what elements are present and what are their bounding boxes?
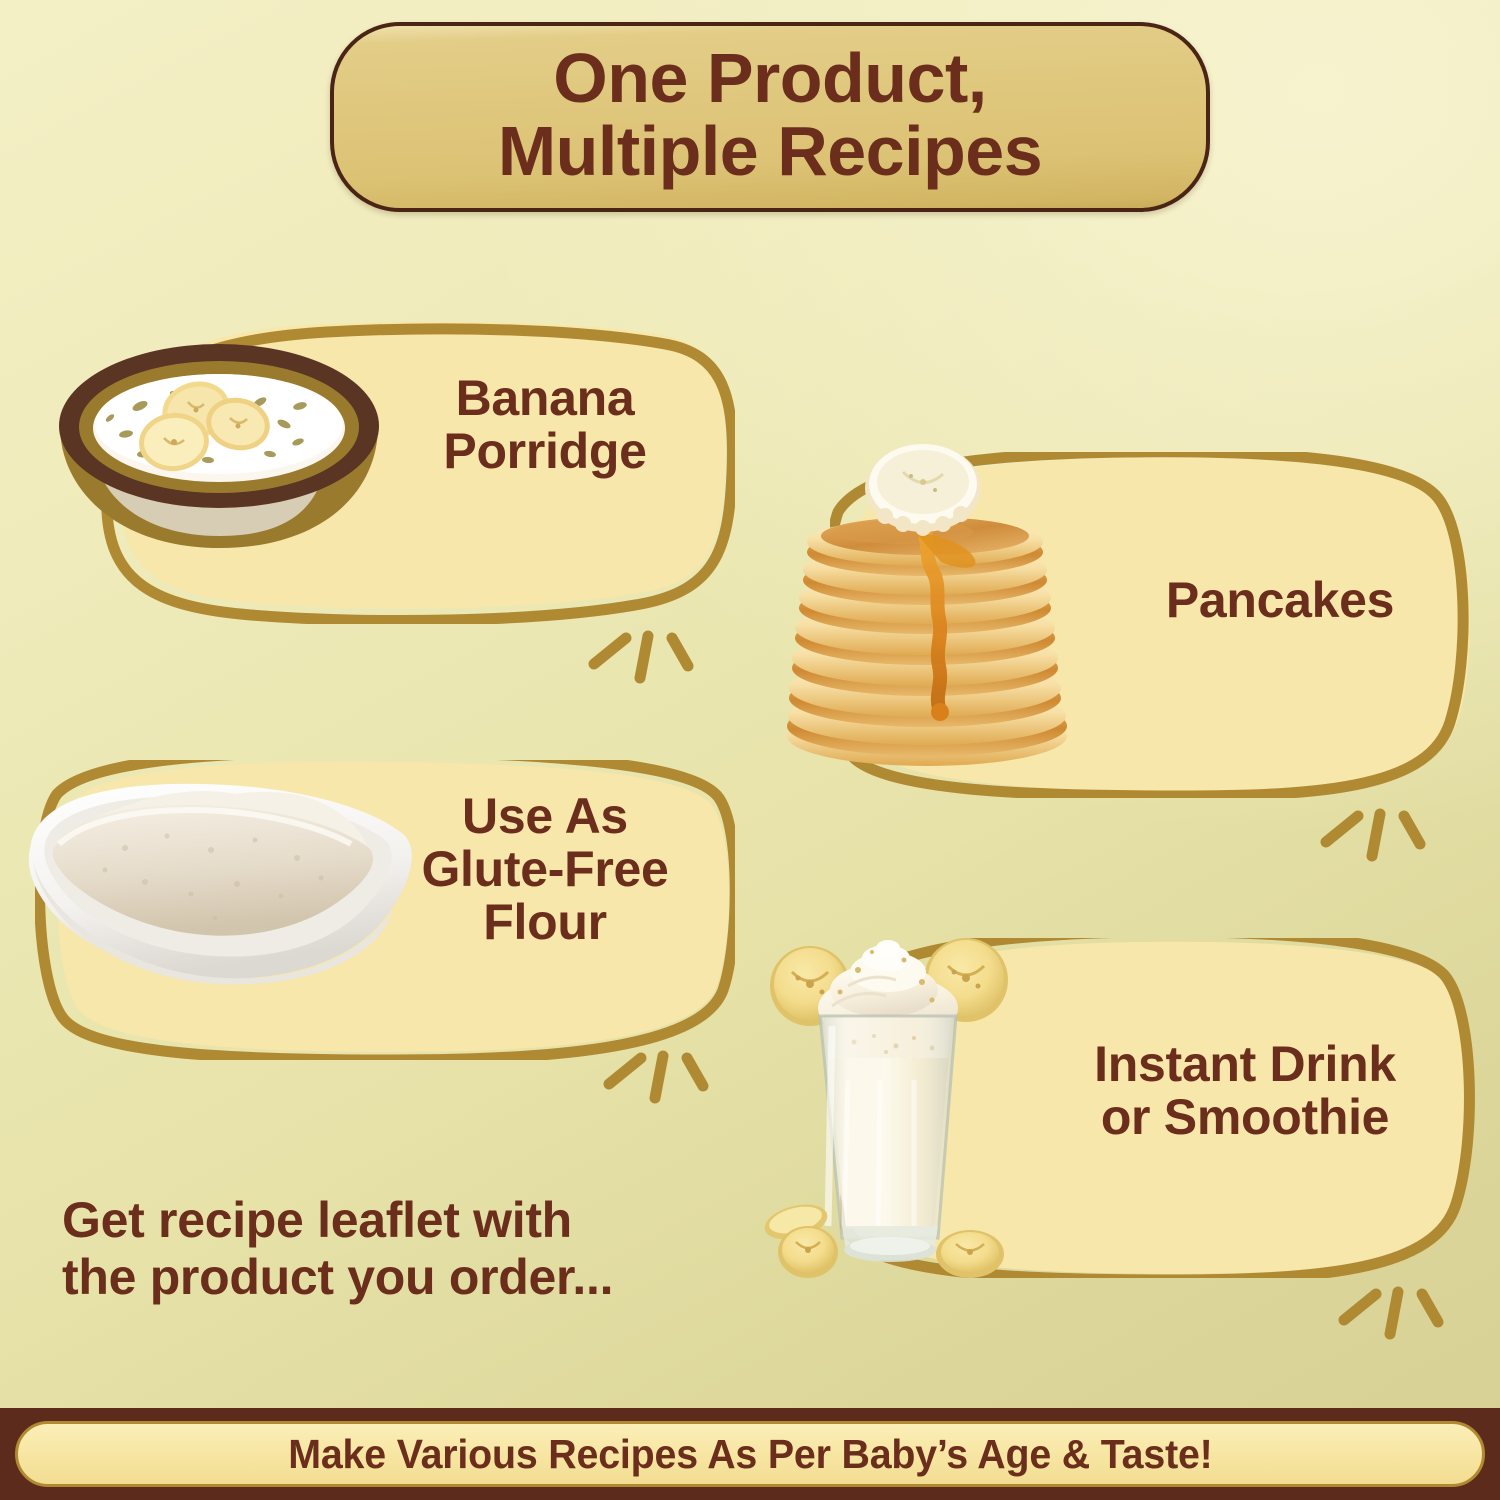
flour-bowl-art <box>15 778 435 993</box>
smoothie-glass-art <box>762 930 1062 1290</box>
card-label-flour: Use As Glute-Free Flour <box>390 790 700 949</box>
footer-banner: Make Various Recipes As Per Baby’s Age &… <box>0 1408 1500 1500</box>
header-banner: One Product, Multiple Recipes <box>330 22 1210 212</box>
footer-tagline: Make Various Recipes As Per Baby’s Age &… <box>288 1431 1212 1478</box>
sparkle-icon <box>1312 790 1442 880</box>
card-label-porridge: Banana Porridge <box>375 372 715 478</box>
sparkle-icon <box>580 612 710 702</box>
page-title: One Product, Multiple Recipes <box>498 42 1042 192</box>
poster-canvas: One Product, Multiple Recipes Banana Por… <box>0 0 1500 1500</box>
banana-porridge-bowl-art <box>48 330 398 580</box>
smoothie-glass <box>820 1016 956 1262</box>
card-label-smoothie: Instant Drink or Smoothie <box>1030 1038 1460 1144</box>
sparkle-icon <box>1330 1268 1460 1358</box>
pancake-stack-art <box>775 440 1085 770</box>
leaflet-note-text: Get recipe leaflet with the product you … <box>62 1192 742 1306</box>
card-label-pancakes: Pancakes <box>1110 574 1450 627</box>
footer-pill: Make Various Recipes As Per Baby’s Age &… <box>15 1421 1485 1487</box>
sparkle-icon <box>595 1032 725 1122</box>
